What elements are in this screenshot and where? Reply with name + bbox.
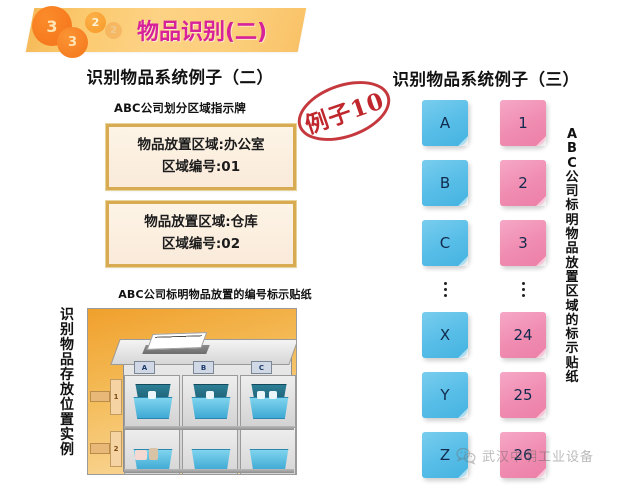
area-sign-plate-warehouse: 物品放置区域:仓库 区域编号:02 — [106, 201, 296, 267]
number-card-24[interactable]: 24 — [500, 312, 546, 358]
illustration-bin-item — [148, 391, 156, 399]
decor-bubble-1-label: 3 — [46, 17, 57, 36]
illustration-row-tag-1 — [90, 391, 110, 402]
illustration-bin-item — [135, 450, 147, 460]
plate-office-area: 物品放置区域:办公室 — [115, 135, 287, 157]
photo-vertical-label: 识别物品存放位置实例 — [57, 308, 77, 458]
illustration-row-tag-2 — [90, 443, 110, 454]
number-column-ellipsis — [500, 274, 546, 304]
illustration-row-label-2: 2 — [110, 431, 122, 467]
illustration-label-text-lines — [154, 335, 202, 340]
letter-card-column: A B C X Y Z — [422, 100, 468, 492]
plate-office-code: 区域编号:01 — [115, 157, 287, 179]
area-sign-plate-office: 物品放置区域:办公室 区域编号:01 — [106, 124, 296, 190]
decor-bubble-3: 2 — [85, 12, 106, 33]
illustration-bin-item — [149, 448, 158, 460]
plates-caption: ABC公司划分区域指示牌 — [60, 100, 300, 116]
letter-card-c[interactable]: C — [422, 220, 468, 266]
left-section-title: 识别物品系统例子（二） — [40, 64, 320, 88]
watermark: 武汉中明工业设备 — [456, 446, 594, 465]
number-card-25[interactable]: 25 — [500, 372, 546, 418]
illustration-cell-a1 — [124, 375, 180, 429]
decor-bubble-3-label: 2 — [92, 16, 100, 29]
illustration-column-header-b: B — [193, 361, 214, 374]
shelf-illustration: A B C 1 2 — [87, 308, 297, 475]
decor-bubble-2-label: 3 — [68, 35, 77, 50]
page-title: 物品识别(二) — [137, 14, 267, 46]
illustration-bin — [247, 449, 291, 471]
letter-card-b[interactable]: B — [422, 160, 468, 206]
illustration-bin-item — [269, 391, 277, 399]
right-section-title: 识别物品系统例子（三） — [386, 66, 586, 90]
illustration-shelf-line-2 — [124, 469, 294, 473]
watermark-label: 武汉中明工业设备 — [482, 446, 594, 465]
decor-bubble-2: 3 — [57, 27, 88, 58]
letter-card-a[interactable]: A — [422, 100, 468, 146]
illustration-cell-b1 — [182, 375, 238, 429]
illustration-cell-c1 — [240, 375, 296, 429]
illustration-bin — [131, 397, 175, 419]
letter-card-x[interactable]: X — [422, 312, 468, 358]
wechat-icon — [456, 447, 476, 465]
right-vertical-label: ABC公司标明物品放置区域的标示贴纸 — [563, 128, 581, 385]
illustration-shelf-line-1 — [124, 426, 294, 430]
illustration-label-sheet — [147, 332, 208, 350]
number-card-column: 1 2 3 24 25 26 — [500, 100, 546, 492]
illustration-cell-a2 — [124, 427, 180, 475]
decor-bubble-4: 2 — [105, 22, 122, 39]
header-banner: 3 3 2 2 物品识别(二) — [0, 0, 640, 62]
illustration-column-header-c: C — [251, 361, 272, 374]
illustration-bin — [189, 449, 233, 471]
number-card-1[interactable]: 1 — [500, 100, 546, 146]
decor-bubble-4-label: 2 — [110, 25, 117, 36]
illustration-bin-item — [206, 391, 214, 399]
plate-warehouse-code: 区域编号:02 — [115, 234, 287, 256]
illustration-column-header-a: A — [134, 361, 155, 374]
illustration-bin — [189, 397, 233, 419]
photo-caption: ABC公司标明物品放置的编号标示贴纸 — [85, 286, 345, 302]
illustration-row-label-1: 1 — [110, 379, 122, 415]
letter-card-y[interactable]: Y — [422, 372, 468, 418]
number-card-3[interactable]: 3 — [500, 220, 546, 266]
illustration-bin-item — [257, 391, 265, 399]
illustration-cell-b2 — [182, 427, 238, 475]
area-sign-plates: 物品放置区域:办公室 区域编号:01 物品放置区域:仓库 区域编号:02 — [106, 124, 296, 278]
number-card-2[interactable]: 2 — [500, 160, 546, 206]
illustration-cell-c2 — [240, 427, 296, 475]
illustration-bin — [247, 397, 291, 419]
letter-column-ellipsis — [422, 274, 468, 304]
plate-warehouse-area: 物品放置区域:仓库 — [115, 212, 287, 234]
